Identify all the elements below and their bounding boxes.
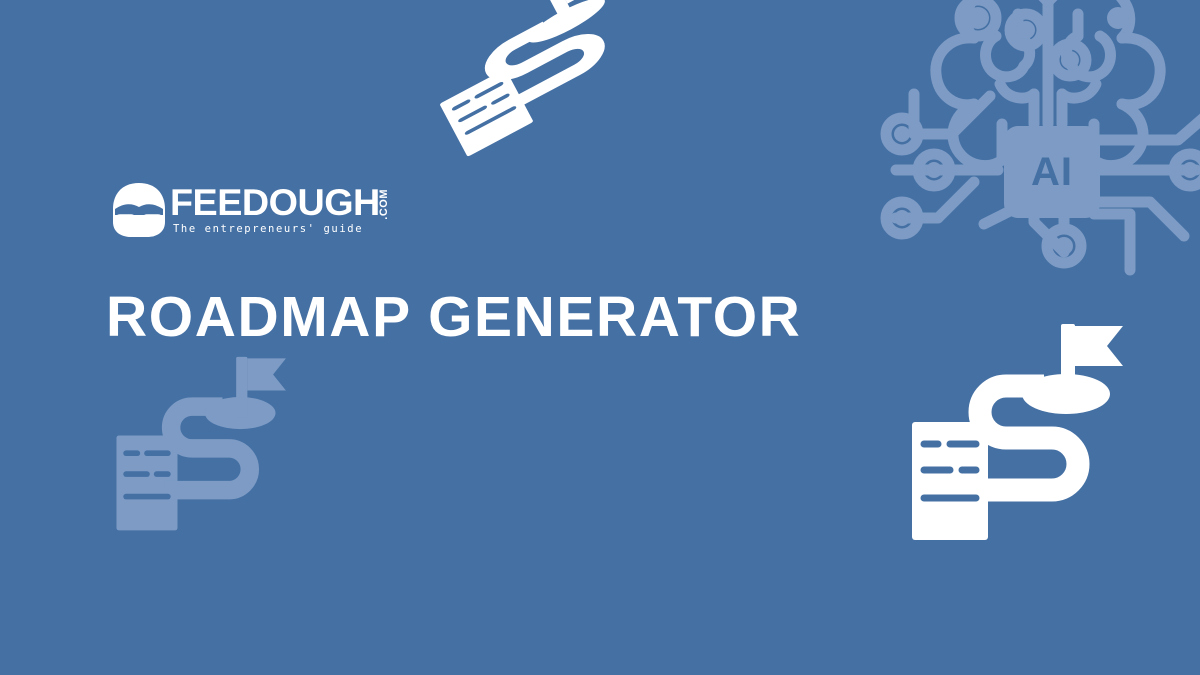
logo-tld-text: .COM <box>379 189 390 220</box>
roadmap-icon-left <box>100 352 300 548</box>
feedough-logo[interactable]: FEEDOUGH .COM The entrepreneurs' guide <box>110 182 356 244</box>
roadmap-icon-left-svg <box>100 352 300 548</box>
feedough-face-icon <box>110 182 168 238</box>
banner-root: AI <box>0 0 1200 675</box>
logo-tagline: The entrepreneurs' guide <box>173 223 390 235</box>
page-title: ROADMAP GENERATOR <box>106 286 801 350</box>
ai-brain-circuit-icon: AI <box>878 0 1200 284</box>
roadmap-icon-right-svg <box>898 318 1134 562</box>
logo-brand-text: FEEDOUGH <box>170 188 380 218</box>
logo-row: FEEDOUGH .COM The entrepreneurs' guide <box>110 182 356 238</box>
logo-wordmark: FEEDOUGH .COM The entrepreneurs' guide <box>170 182 390 235</box>
roadmap-icon-top-svg <box>402 0 665 173</box>
roadmap-icon-right <box>898 318 1134 562</box>
roadmap-icon-top <box>402 0 665 173</box>
ai-chip-label-wrap: AI <box>1004 126 1100 218</box>
ai-chip-label: AI <box>1031 150 1073 195</box>
ai-brain-circuit-svg <box>878 0 1200 284</box>
logo-word: FEEDOUGH .COM <box>170 188 390 220</box>
